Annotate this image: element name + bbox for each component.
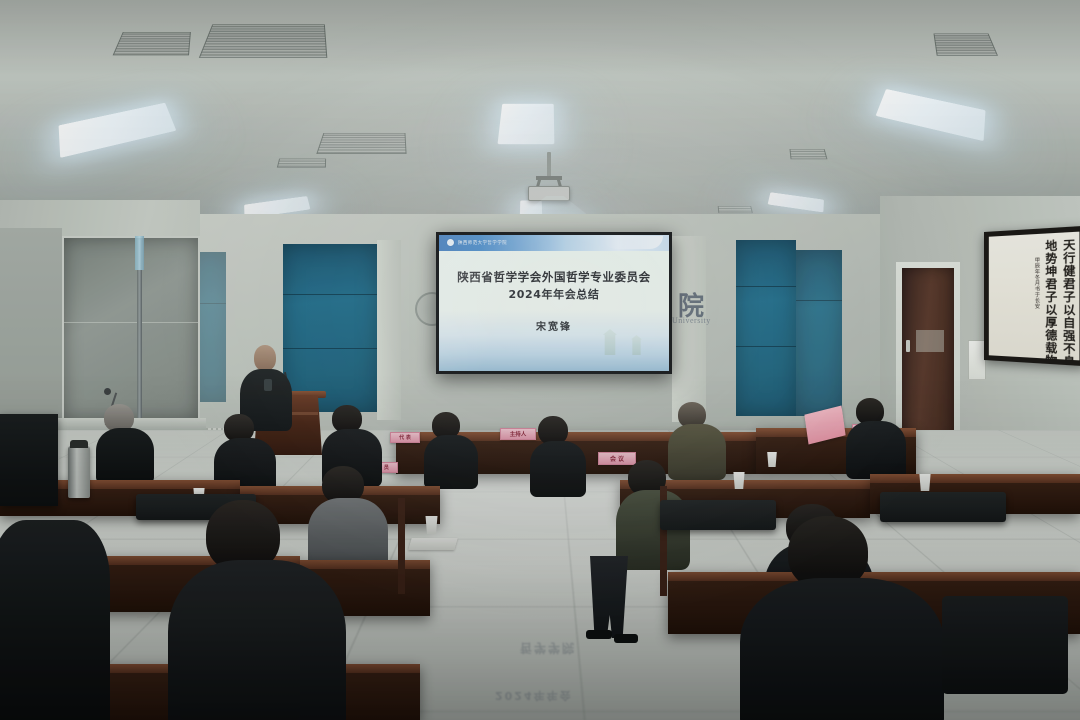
teal-wall-panel — [796, 250, 842, 416]
nameplate-text: 会 议 — [599, 453, 635, 466]
slide-title: 陕西省哲学学会外国哲学专业委员会 — [439, 269, 669, 285]
attendee-body — [530, 441, 586, 497]
presenter-head — [254, 345, 276, 371]
slide-pagoda-graphic — [587, 319, 665, 355]
slide-subtitle: 2024年年会总结 — [439, 286, 669, 302]
thermos-flask — [68, 446, 90, 498]
attendee-body — [0, 520, 110, 720]
document-sheet — [408, 538, 457, 550]
attendee-body — [96, 428, 154, 484]
teal-wall-panel — [196, 252, 226, 402]
door-handle[interactable] — [906, 340, 910, 352]
teal-wall-panel — [283, 244, 377, 412]
calligraphy-signature: 甲辰年冬月书于长安 — [1033, 257, 1039, 309]
nameplate: 代 表 — [390, 432, 420, 443]
calligraphy-frame: 天行健君子以自强不息 地势坤君子以厚德载物 甲辰年冬月书于长安 — [984, 226, 1080, 366]
control-booth-window — [62, 236, 200, 422]
backpack — [180, 610, 300, 720]
chair-back — [660, 500, 776, 530]
presenter-collar — [264, 379, 272, 391]
slide-logo: 陕西师范大学哲学学院 — [446, 238, 507, 247]
nameplate-text: 主持人 — [501, 429, 535, 441]
floor-reflected-text: 2024年年会 — [495, 688, 573, 704]
slide-logo-text: 陕西师范大学哲学学院 — [458, 240, 507, 246]
teal-wall-panel — [736, 240, 796, 416]
conference-room-photo: 院 University 天行健君子以自强不息 地势坤君子以厚德载物 甲辰年冬月… — [0, 0, 1080, 720]
walking-person-shoe — [586, 630, 612, 639]
av-cabinet — [0, 414, 58, 506]
wall-pipe-highlight — [135, 236, 144, 270]
attendee-body — [668, 424, 726, 480]
nameplate: 会 议 — [598, 452, 636, 465]
calligraphy-mat: 天行健君子以自强不息 地势坤君子以厚德载物 甲辰年冬月书于长安 — [989, 232, 1080, 361]
slide-swoosh-graphic — [603, 236, 663, 249]
wall-column — [377, 240, 401, 420]
wall-sign-english: University — [672, 316, 711, 325]
door-glass-panel — [916, 330, 944, 352]
chair-back — [880, 492, 1006, 522]
chair-frame — [398, 498, 405, 594]
desk-surface — [870, 474, 1080, 483]
nameplate: 主持人 — [500, 428, 536, 440]
walking-person-shoe — [614, 634, 638, 643]
presentation-slide: 陕西师范大学哲学学院 陕西省哲学学会外国哲学专业委员会 2024年年会总结 宋宽… — [439, 235, 669, 371]
calligraphy-column-1: 天行健君子以自强不息 — [1061, 238, 1075, 360]
room-door[interactable] — [902, 268, 954, 442]
attendee-body — [424, 435, 478, 489]
attendee-body — [740, 578, 944, 720]
university-logo-icon — [446, 238, 455, 247]
projection-screen: 陕西师范大学哲学学院 陕西省哲学学会外国哲学专业委员会 2024年年会总结 宋宽… — [436, 232, 672, 374]
attendee-body — [846, 421, 906, 479]
thermos-cap — [70, 440, 88, 448]
laptop-bag — [942, 596, 1068, 694]
wall-column — [672, 236, 706, 422]
desk-surface — [300, 560, 430, 569]
microphone-icon — [104, 388, 111, 395]
calligraphy-column-2: 地势坤君子以厚德载物 — [1043, 239, 1056, 360]
floor-reflected-text: 哲学学院 — [520, 640, 576, 657]
nameplate-text: 代 表 — [391, 433, 419, 444]
